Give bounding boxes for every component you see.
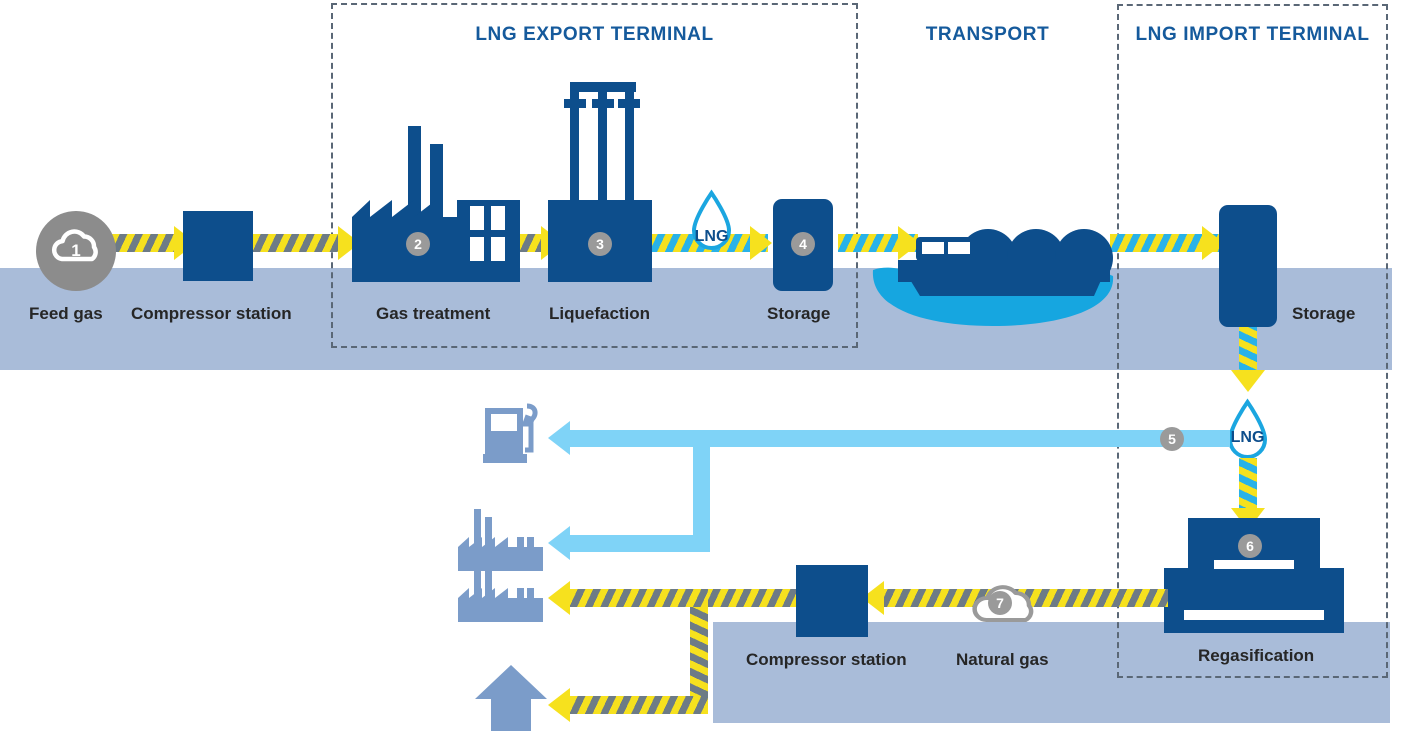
lng-value-chain-diagram: LNG EXPORT TERMINAL TRANSPORT LNG IMPORT… bbox=[0, 0, 1401, 731]
lng-distribution-line-vertical bbox=[693, 430, 710, 552]
badge-feed-gas: 1 bbox=[64, 238, 88, 262]
lng-distribution-branch-to-fuelstation bbox=[570, 430, 710, 447]
badge-lng-distribution: 5 bbox=[1160, 427, 1184, 451]
transport-ship-node bbox=[868, 218, 1118, 328]
lng-droplet-export-text: LNG bbox=[689, 228, 734, 246]
label-regasification: Regasification bbox=[1198, 646, 1314, 666]
house-icon bbox=[475, 665, 547, 731]
badge-liquefaction: 3 bbox=[588, 232, 612, 256]
pipe-compressor-to-gastreatment bbox=[253, 234, 343, 252]
label-feed-gas: Feed gas bbox=[29, 304, 103, 324]
industry-icon bbox=[458, 560, 543, 622]
arrow-liquefaction-to-storage bbox=[750, 226, 772, 260]
lng-droplet-import-text: LNG bbox=[1225, 429, 1270, 447]
badge-gas-treatment: 2 bbox=[406, 232, 430, 256]
badge-regasification: 6 bbox=[1238, 534, 1262, 558]
label-compressor-station: Compressor station bbox=[131, 304, 292, 324]
compressor-station-2-box bbox=[796, 565, 868, 637]
industry-gas-node bbox=[458, 560, 543, 622]
pipe-feedgas-to-compressor bbox=[112, 234, 180, 252]
gas-treatment-node bbox=[352, 120, 522, 282]
arrow-to-household bbox=[548, 688, 570, 722]
zone-title-lng-export-terminal: LNG EXPORT TERMINAL bbox=[331, 24, 858, 46]
arrow-to-industry-gas bbox=[548, 581, 570, 615]
lng-distribution-line-horizontal bbox=[693, 430, 1230, 447]
badge-storage-export: 4 bbox=[791, 232, 815, 256]
lng-distribution-branch-to-industry bbox=[570, 535, 710, 552]
lng-carrier-ship-icon bbox=[868, 218, 1118, 328]
zone-title-lng-import-terminal: LNG IMPORT TERMINAL bbox=[1117, 24, 1388, 46]
label-gas-treatment: Gas treatment bbox=[376, 304, 490, 324]
household-node bbox=[475, 665, 547, 731]
label-storage-export: Storage bbox=[767, 304, 830, 324]
arrow-to-industry-lng bbox=[548, 526, 570, 560]
fuel-pump-icon bbox=[483, 402, 548, 464]
arrow-to-fuel-station bbox=[548, 421, 570, 455]
fuel-station-node bbox=[483, 402, 548, 464]
arrow-import-storage-down bbox=[1231, 370, 1265, 392]
factory-icon bbox=[352, 120, 522, 282]
badge-natural-gas: 7 bbox=[988, 591, 1012, 615]
pipe-branch-to-household bbox=[570, 696, 708, 714]
compressor-station-box bbox=[183, 211, 253, 281]
storage-import-tank bbox=[1219, 205, 1277, 327]
label-storage-import: Storage bbox=[1292, 304, 1355, 324]
label-compressor-station-2: Compressor station bbox=[746, 650, 907, 670]
label-liquefaction: Liquefaction bbox=[549, 304, 650, 324]
label-natural-gas: Natural gas bbox=[956, 650, 1049, 670]
pipe-branch-to-industry-gas bbox=[570, 589, 708, 607]
zone-title-transport: TRANSPORT bbox=[858, 24, 1117, 46]
